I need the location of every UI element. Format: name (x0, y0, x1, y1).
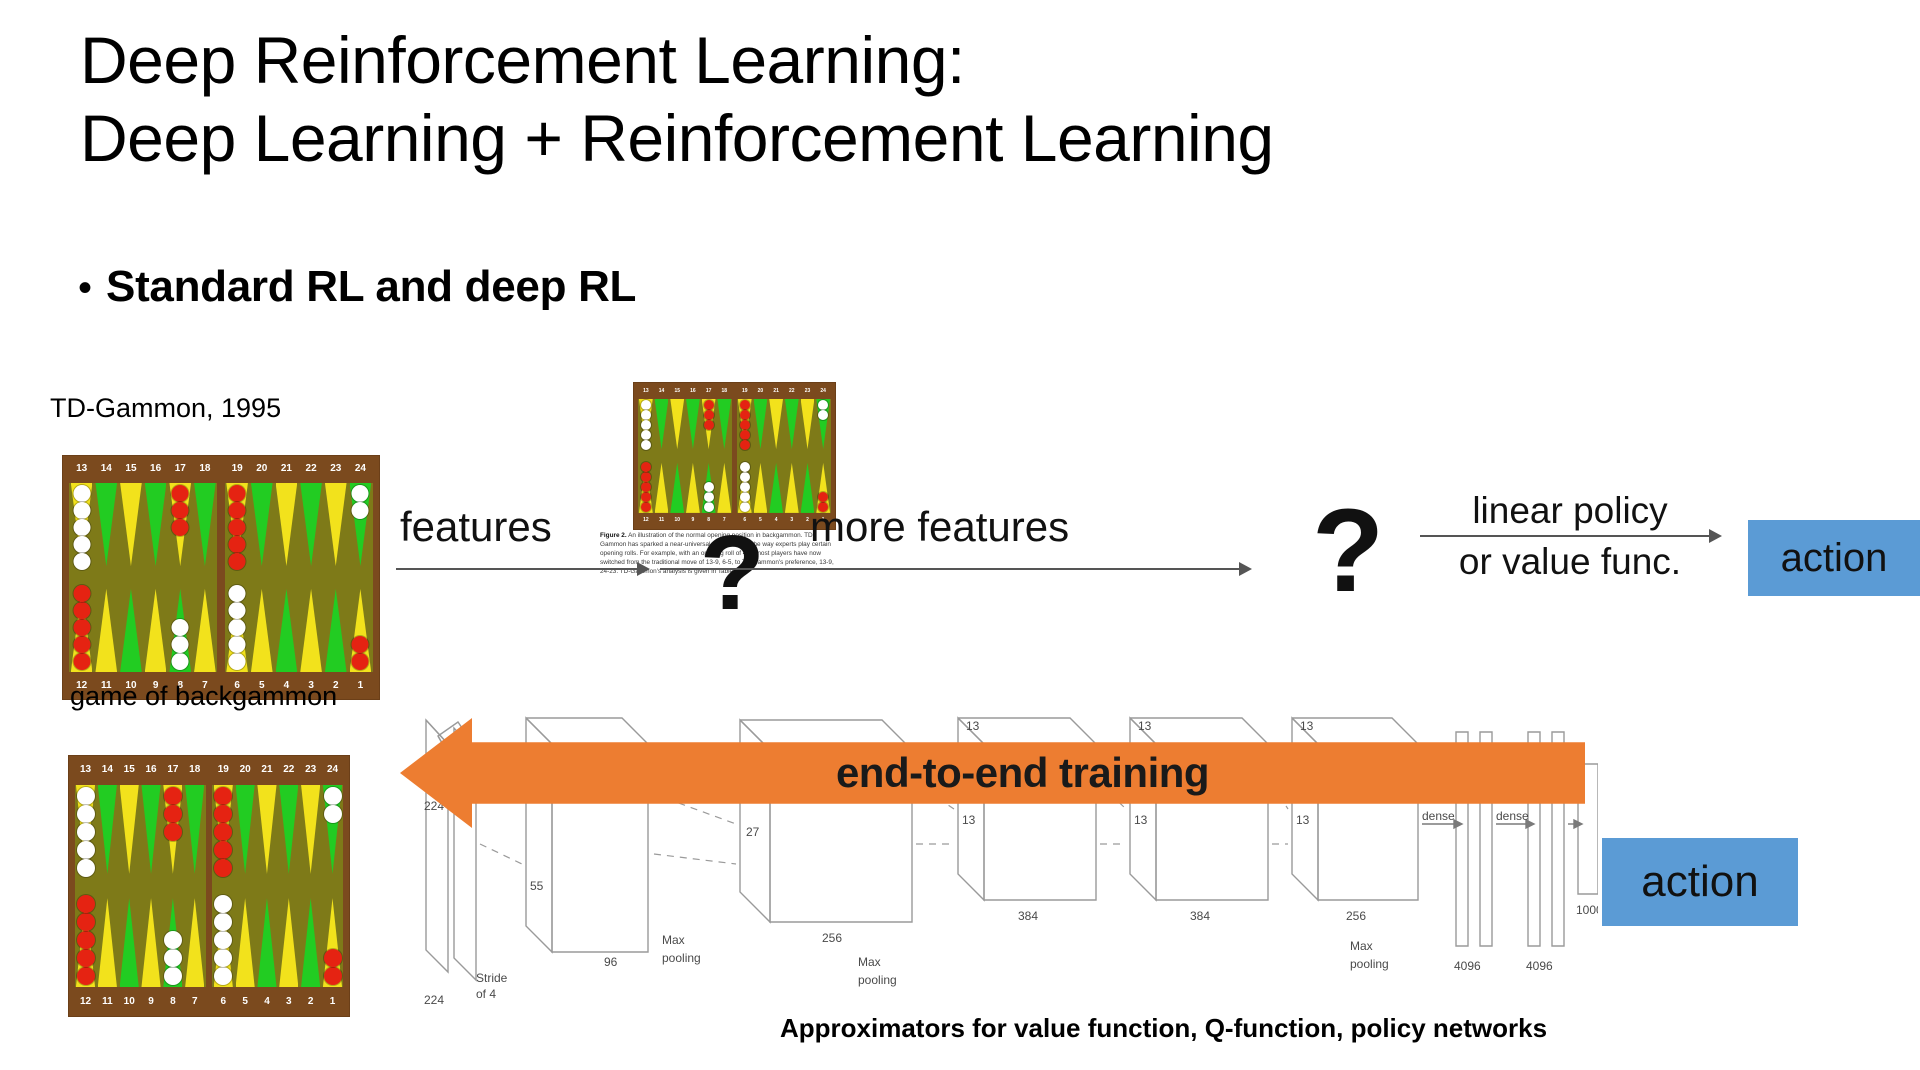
cnn-label: 13 (1138, 719, 1152, 733)
board-point (815, 399, 831, 513)
point-number: 11 (96, 997, 118, 1007)
point-number: 18 (716, 389, 732, 394)
bullet-label: Standard RL and deep RL (106, 262, 636, 312)
board-top-fields (63, 483, 379, 673)
backgammon-caption: game of backgammon (70, 681, 337, 712)
point-number: 11 (654, 518, 670, 523)
policy-denominator: or value func. (1420, 541, 1720, 582)
action-box-top[interactable]: action (1748, 520, 1920, 596)
board-point (737, 399, 753, 513)
cnn-label: 1000 (1576, 903, 1598, 917)
board-point (716, 399, 732, 513)
cnn-label: Stride (476, 971, 508, 985)
figure-caption-label: Figure 2. (600, 532, 627, 539)
point-number: 16 (140, 765, 162, 775)
policy-numerator: linear policy (1420, 490, 1720, 531)
cnn-label: 13 (966, 719, 980, 733)
board-point (768, 399, 784, 513)
point-number: 1 (322, 997, 344, 1007)
point-number: 6 (212, 997, 234, 1007)
point-number: 14 (94, 464, 119, 474)
cnn-label: pooling (1350, 957, 1389, 971)
cnn-label: 13 (1134, 813, 1148, 827)
point-number: 16 (143, 464, 168, 474)
cnn-label: 13 (1300, 719, 1314, 733)
point-number: 15 (119, 464, 144, 474)
point-number: 23 (323, 464, 348, 474)
cnn-label: 224 (424, 993, 444, 1007)
point-number: 21 (256, 765, 278, 775)
board-point (701, 399, 717, 513)
backgammon-board-top: 13 14 15 16 17 18 19 20 21 22 23 24 (62, 455, 380, 700)
board-point (162, 785, 184, 988)
board-point (685, 399, 701, 513)
backgammon-board-bottom: 13 14 15 16 17 18 19 20 21 22 23 24 (68, 755, 350, 1017)
board-point (118, 785, 140, 988)
point-number: 15 (669, 389, 685, 394)
board-point (69, 483, 94, 673)
point-number: 16 (685, 389, 701, 394)
board-point (638, 399, 654, 513)
point-number: 20 (234, 765, 256, 775)
cnn-label: 13 (1296, 813, 1310, 827)
slide-canvas: Deep Reinforcement Learning: Deep Learni… (0, 0, 1920, 1070)
features-arrow (396, 568, 648, 570)
point-number: 22 (278, 765, 300, 775)
question-mark-icon: ? (1312, 492, 1384, 610)
cnn-label: 55 (530, 879, 544, 893)
point-number: 17 (701, 389, 717, 394)
point-number: 20 (753, 389, 769, 394)
point-number: 13 (69, 464, 94, 474)
point-number: 18 (193, 464, 218, 474)
cnn-label: dense (1422, 809, 1455, 823)
td-gammon-label: TD-Gammon, 1995 (50, 393, 281, 424)
point-number: 21 (768, 389, 784, 394)
cnn-label: Max (1350, 939, 1373, 953)
board-point (75, 785, 97, 988)
point-number: 23 (300, 765, 322, 775)
cnn-label: Max (662, 933, 685, 947)
point-number: 3 (278, 997, 300, 1007)
point-number: 24 (815, 389, 831, 394)
point-number: 24 (322, 765, 344, 775)
point-number: 19 (737, 389, 753, 394)
board-point (274, 483, 299, 673)
cnn-label: 4096 (1526, 959, 1553, 973)
board-point (249, 483, 274, 673)
board-point (322, 785, 344, 988)
board-point (119, 483, 144, 673)
board-quadrant-right (225, 483, 373, 673)
board-point (225, 483, 250, 673)
board-point (800, 399, 816, 513)
board-point (256, 785, 278, 988)
cnn-label: pooling (662, 951, 701, 965)
point-number: 18 (184, 765, 206, 775)
board-point (96, 785, 118, 988)
board-point (278, 785, 300, 988)
board-point (143, 483, 168, 673)
board-point (193, 483, 218, 673)
board-point (669, 399, 685, 513)
cnn-label: of 4 (476, 987, 496, 1001)
point-number: 10 (669, 518, 685, 523)
point-number: 19 (225, 464, 250, 474)
cnn-label: dense (1496, 809, 1529, 823)
bullet-marker: • (78, 268, 92, 308)
board-point (784, 399, 800, 513)
point-number: 5 (234, 997, 256, 1007)
approximators-caption: Approximators for value function, Q-func… (780, 1013, 1547, 1044)
cnn-label: 384 (1018, 909, 1038, 923)
board-point (212, 785, 234, 988)
more-features-arrow (660, 568, 1250, 570)
point-number: 1 (348, 681, 373, 691)
point-number: 10 (118, 997, 140, 1007)
board-point (300, 785, 322, 988)
board-point (234, 785, 256, 988)
point-number: 9 (140, 997, 162, 1007)
cnn-label: 256 (822, 931, 842, 945)
question-mark-icon: ? (700, 520, 765, 626)
cnn-label: 96 (604, 955, 618, 969)
board-point (753, 399, 769, 513)
point-number: 12 (75, 997, 97, 1007)
backgammon-board-snippet: 13 14 15 16 17 18 19 20 21 22 23 24 (633, 382, 836, 530)
cnn-label: pooling (858, 973, 897, 987)
point-number: 19 (212, 765, 234, 775)
action-box-bottom[interactable]: action (1602, 838, 1798, 926)
point-number: 14 (96, 765, 118, 775)
board-point (168, 483, 193, 673)
board-point (654, 399, 670, 513)
point-number: 2 (300, 997, 322, 1007)
point-number: 21 (274, 464, 299, 474)
point-number: 4 (256, 997, 278, 1007)
board-point (184, 785, 206, 988)
point-number: 22 (784, 389, 800, 394)
bullet-item: • Standard RL and deep RL (78, 262, 636, 312)
board-point (94, 483, 119, 673)
more-features-label: more features (810, 503, 1069, 551)
point-number: 14 (654, 389, 670, 394)
board-quadrant-left (69, 483, 217, 673)
cnn-label: 384 (1190, 909, 1210, 923)
cnn-label: 13 (962, 813, 976, 827)
cnn-label: 27 (746, 825, 760, 839)
point-number: 17 (168, 464, 193, 474)
point-number: 15 (118, 765, 140, 775)
board-point (299, 483, 324, 673)
point-number: 9 (685, 518, 701, 523)
board-point (140, 785, 162, 988)
end-to-end-training-label: end-to-end training (836, 749, 1209, 797)
policy-fraction: linear policy or value func. (1420, 490, 1720, 583)
point-number: 7 (184, 997, 206, 1007)
board-point (323, 483, 348, 673)
point-number: 20 (249, 464, 274, 474)
point-number: 13 (638, 389, 654, 394)
cnn-label: Max (858, 955, 881, 969)
point-number: 3 (784, 518, 800, 523)
features-label: features (400, 503, 552, 551)
point-number: 22 (299, 464, 324, 474)
point-number: 17 (162, 765, 184, 775)
point-number: 8 (162, 997, 184, 1007)
point-number: 23 (800, 389, 816, 394)
point-number: 13 (75, 765, 97, 775)
point-number: 4 (768, 518, 784, 523)
point-number: 24 (348, 464, 373, 474)
board-top-numbers: 13 14 15 16 17 18 19 20 21 22 23 24 (63, 456, 379, 483)
cnn-label: 4096 (1454, 959, 1481, 973)
point-number: 12 (638, 518, 654, 523)
policy-arrow (1420, 535, 1720, 537)
page-title: Deep Reinforcement Learning: Deep Learni… (80, 22, 1780, 178)
cnn-label: 256 (1346, 909, 1366, 923)
board-point (348, 483, 373, 673)
